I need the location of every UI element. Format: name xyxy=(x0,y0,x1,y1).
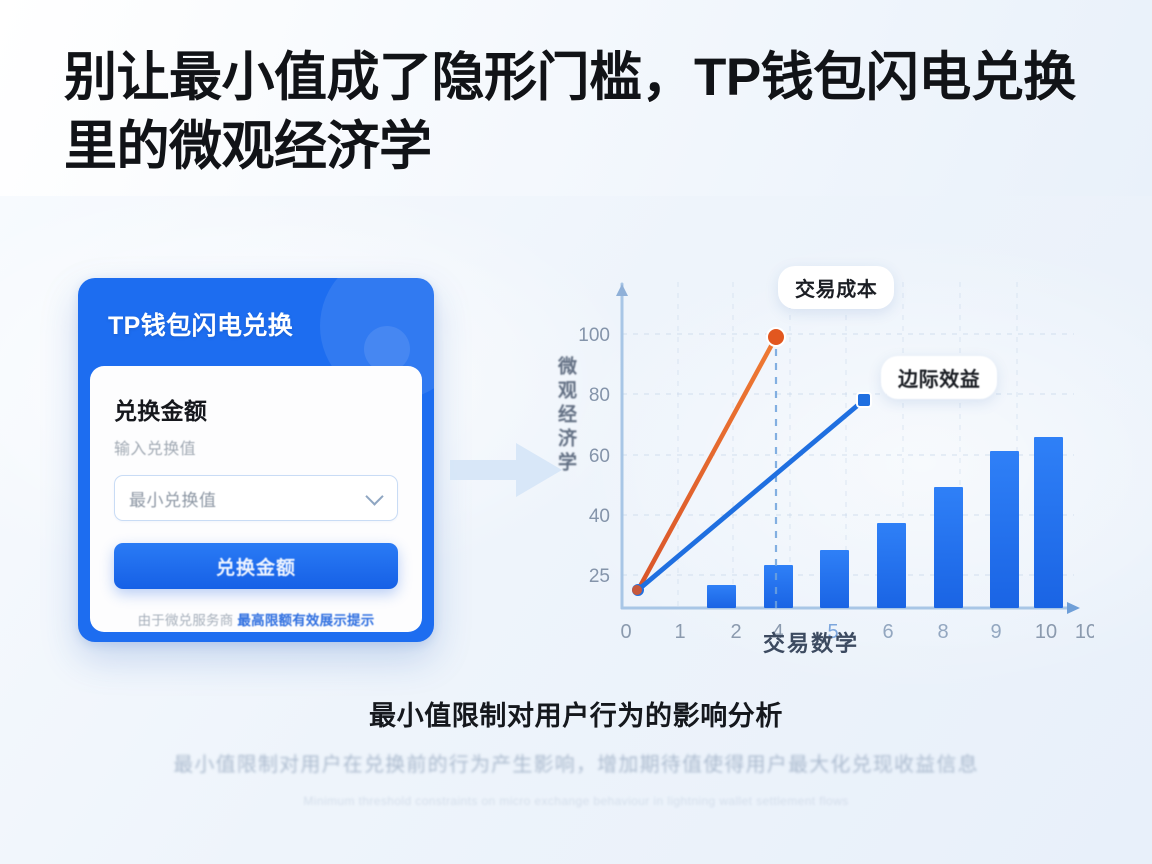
card-footer-note-gray: 由于微兑服务商 xyxy=(138,613,234,628)
caption-subtitle: 最小值限制对用户在兑换前的行为产生影响，增加期待值使得用户最大化兑现收益信息 xyxy=(0,748,1152,777)
chart-x-axis-title: 交易数学 xyxy=(528,626,1094,658)
chart-point-marginal-benefit xyxy=(857,393,871,407)
infographic-page: 别让最小值成了隐形门槛，TP钱包闪电兑换里的微观经济学 TP钱包闪电兑换 兑换金… xyxy=(0,0,1152,864)
chart-line-transaction-cost xyxy=(638,337,776,590)
min-amount-select-value: 最小兑换值 xyxy=(129,486,217,511)
chart-y-axis-title: 微观经济学 xyxy=(542,356,576,476)
svg-text:60: 60 xyxy=(589,446,610,467)
annotation-transaction-cost: 交易成本 xyxy=(778,266,894,309)
card-header: TP钱包闪电兑换 xyxy=(78,278,434,370)
card-footer-note-blue: 最高限额有效展示提示 xyxy=(237,613,374,628)
svg-text:100: 100 xyxy=(578,325,610,346)
chart-bars xyxy=(707,437,1063,608)
chevron-down-icon xyxy=(365,487,383,505)
svg-text:80: 80 xyxy=(589,385,610,406)
card-body: 兑换金额 输入兑换值 最小兑换值 兑换金额 由于微兑服务商 最高限额有效展示提示 xyxy=(90,366,422,632)
amount-field-label: 兑换金额 xyxy=(114,392,398,426)
svg-text:25: 25 xyxy=(589,566,610,587)
svg-text:40: 40 xyxy=(589,506,610,527)
min-amount-select[interactable]: 最小兑换值 xyxy=(114,475,398,521)
amount-field-hint: 输入兑换值 xyxy=(114,435,398,459)
card-title: TP钱包闪电兑换 xyxy=(108,306,293,342)
page-title: 别让最小值成了隐形门槛，TP钱包闪电兑换里的微观经济学 xyxy=(64,44,1124,182)
chart-origin-marker-orange xyxy=(632,585,642,595)
chart-y-ticks: 100 80 60 40 25 xyxy=(578,325,610,587)
caption-microtext: Minimum threshold constraints on micro e… xyxy=(0,794,1152,808)
chart-svg: 100 80 60 40 25 xyxy=(528,252,1094,672)
chart-point-transaction-cost xyxy=(767,328,785,346)
caption-title: 最小值限制对用户行为的影响分析 xyxy=(0,694,1152,733)
exchange-amount-button[interactable]: 兑换金额 xyxy=(114,543,398,589)
exchange-amount-button-label: 兑换金额 xyxy=(216,553,296,580)
wallet-card: TP钱包闪电兑换 兑换金额 输入兑换值 最小兑换值 兑换金额 由于微兑服务商 最… xyxy=(78,278,434,642)
card-footer-note: 由于微兑服务商 最高限额有效展示提示 xyxy=(114,609,398,629)
impact-chart: 100 80 60 40 25 xyxy=(528,252,1094,672)
annotation-marginal-benefit: 边际效益 xyxy=(881,356,997,399)
title-band: 别让最小值成了隐形门槛，TP钱包闪电兑换里的微观经济学 xyxy=(0,0,1152,196)
